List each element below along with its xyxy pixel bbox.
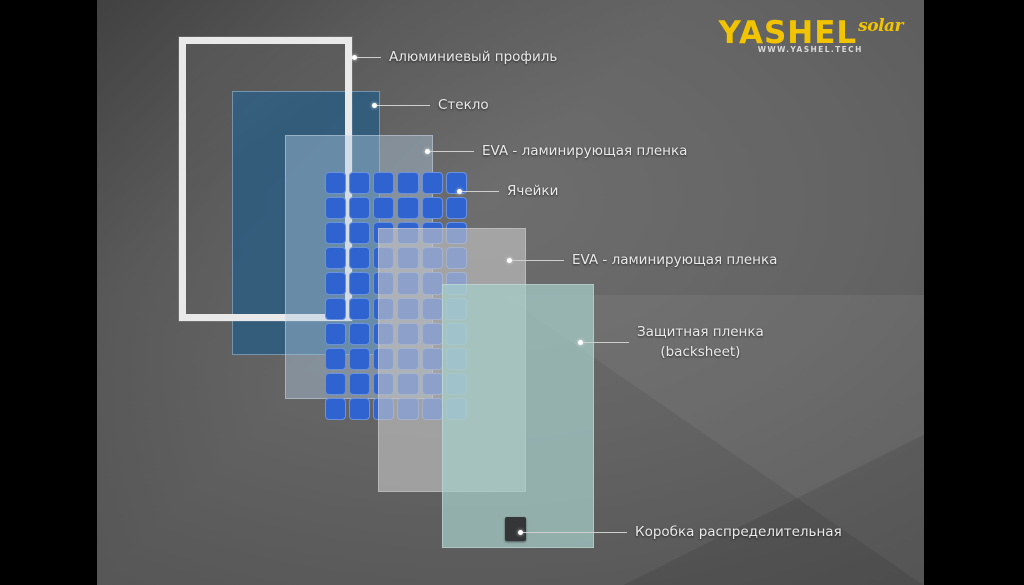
callout-label-aluminium: Алюминиевый профиль	[389, 49, 557, 65]
solar-cell	[397, 197, 418, 219]
callout-junction-box: Коробка распределительная	[518, 524, 842, 540]
background-wedge-dark	[624, 435, 924, 585]
callout-backsheet: Защитная пленка (backsheet)	[578, 323, 764, 362]
brand-logo: YASHELsolar WWW.YASHEL.TECH	[718, 18, 902, 54]
callout-label-backsheet-line2: (backsheet)	[660, 344, 740, 360]
callout-label-eva-back: EVA - ламинирующая пленка	[572, 252, 777, 268]
solar-cell	[373, 197, 394, 219]
solar-cell	[422, 197, 443, 219]
solar-cell	[349, 222, 370, 244]
layer-backsheet	[442, 284, 594, 548]
callout-line-backsheet	[583, 342, 629, 343]
callout-line-aluminium	[357, 57, 381, 58]
solar-cell	[446, 197, 467, 219]
callout-cells: Ячейки	[457, 183, 558, 199]
solar-cell	[349, 197, 370, 219]
solar-cell	[373, 172, 394, 194]
callout-label-backsheet: Защитная пленка (backsheet)	[637, 323, 764, 362]
callout-aluminium: Алюминиевый профиль	[352, 49, 557, 65]
solar-cell	[325, 172, 346, 194]
callout-label-backsheet-line1: Защитная пленка	[637, 324, 764, 340]
solar-cell	[325, 247, 346, 269]
callout-label-eva-front: EVA - ламинирующая пленка	[482, 143, 687, 159]
solar-cell	[325, 348, 346, 370]
solar-cell	[422, 172, 443, 194]
callout-line-glass	[377, 105, 430, 106]
callout-glass: Стекло	[372, 97, 489, 113]
letterbox-right	[924, 0, 1024, 585]
solar-cell	[349, 172, 370, 194]
solar-cell	[325, 222, 346, 244]
callout-eva-back: EVA - ламинирующая пленка	[507, 252, 777, 268]
callout-line-eva-back	[512, 260, 564, 261]
screenshot-stage: YASHELsolar WWW.YASHEL.TECH Алюминиевый …	[0, 0, 1024, 585]
callout-label-cells: Ячейки	[507, 183, 558, 199]
callout-eva-front: EVA - ламинирующая пленка	[425, 143, 687, 159]
callout-line-junction-box	[523, 532, 627, 533]
solar-cell	[349, 272, 370, 294]
diagram-canvas: YASHELsolar WWW.YASHEL.TECH Алюминиевый …	[97, 0, 924, 585]
solar-cell	[325, 323, 346, 345]
callout-line-eva-front	[430, 151, 474, 152]
solar-cell	[325, 373, 346, 395]
solar-cell	[349, 348, 370, 370]
solar-cell	[325, 398, 346, 420]
callout-label-junction-box: Коробка распределительная	[635, 524, 842, 540]
solar-cell	[349, 373, 370, 395]
solar-cell	[349, 398, 370, 420]
letterbox-left	[0, 0, 97, 585]
callout-line-cells	[462, 191, 499, 192]
callout-label-glass: Стекло	[438, 97, 489, 113]
solar-cell	[349, 323, 370, 345]
solar-cell	[325, 272, 346, 294]
solar-cell	[349, 247, 370, 269]
brand-suffix: solar	[858, 16, 903, 36]
solar-cell	[397, 172, 418, 194]
solar-cell	[349, 298, 370, 320]
solar-cell	[325, 197, 346, 219]
solar-cell	[325, 298, 346, 320]
